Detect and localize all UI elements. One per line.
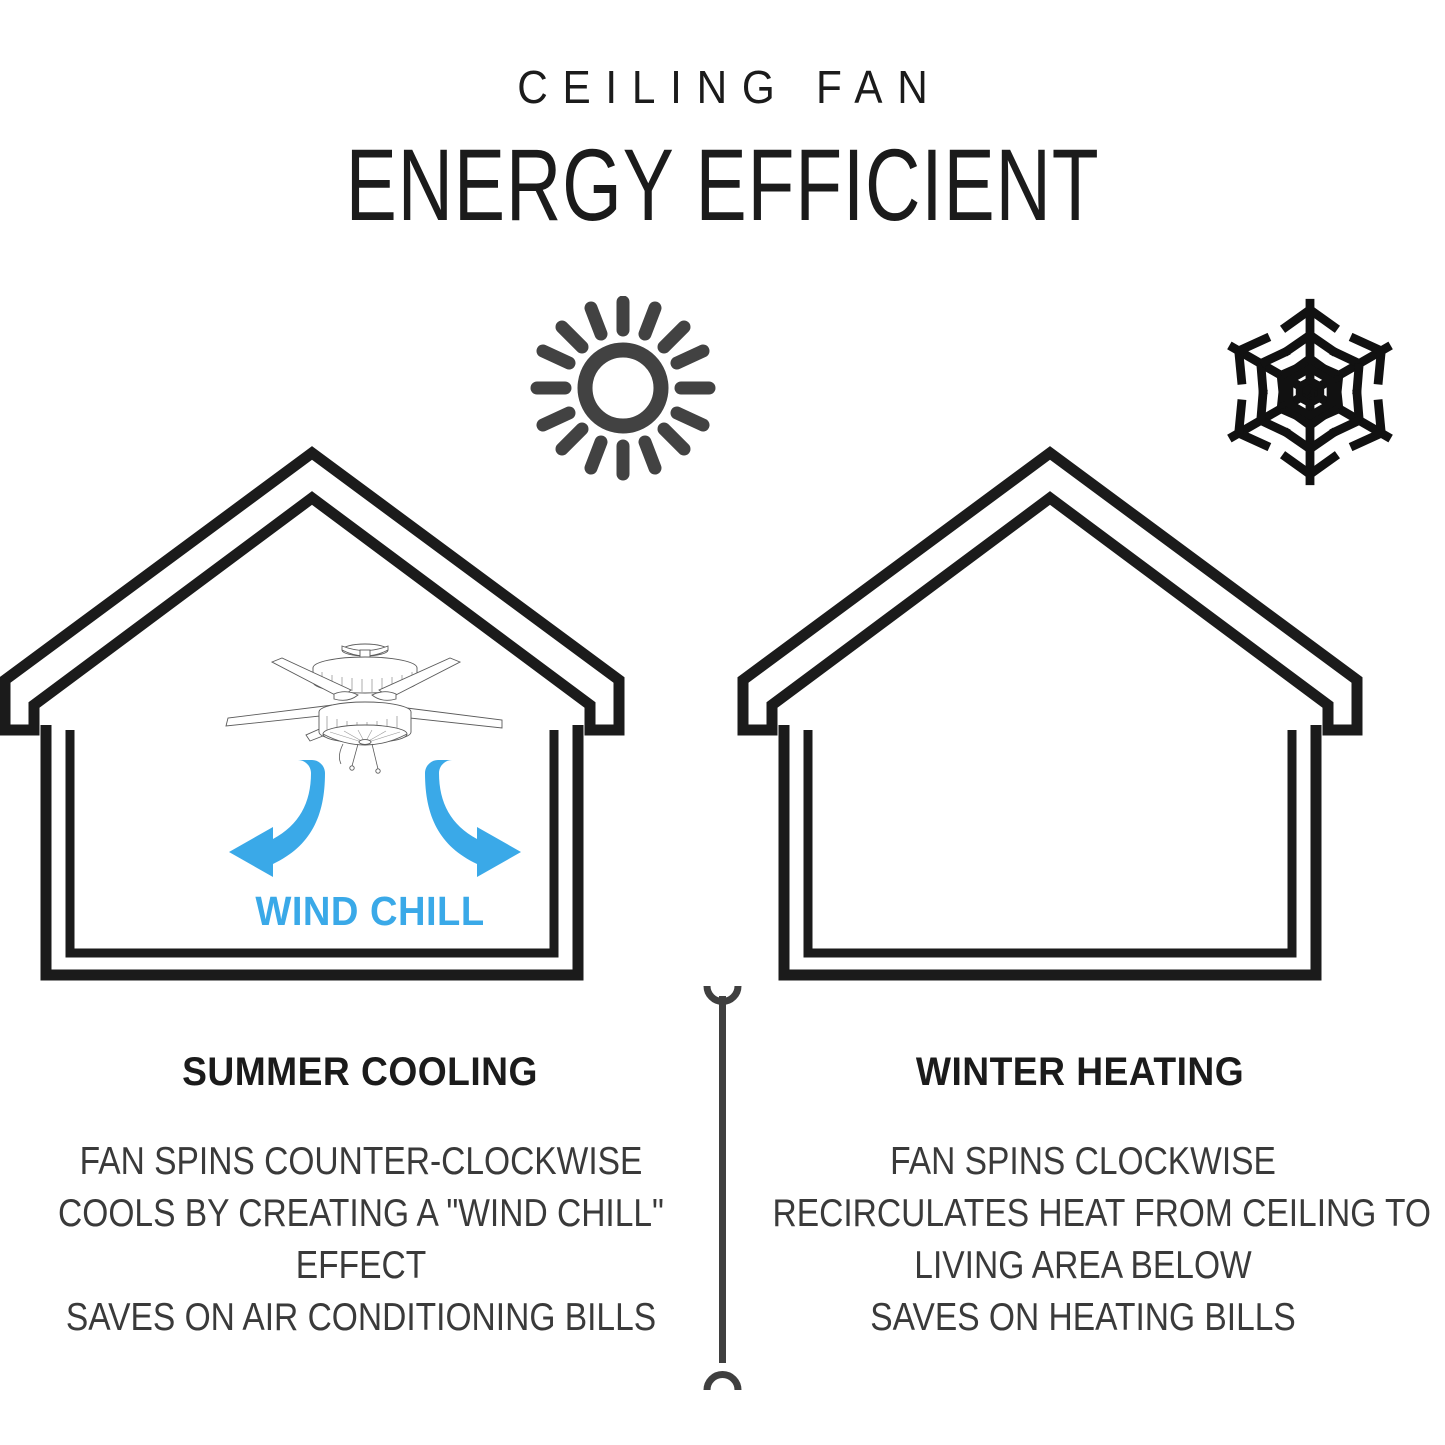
- winter-body: FAN SPINS CLOCKWISERECIRCULATES HEAT FRO…: [773, 1136, 1394, 1343]
- winter-body-line-2: LIVING AREA BELOW: [773, 1240, 1394, 1292]
- callout-summer: WIND CHILL: [82, 888, 659, 935]
- airflow-arrows-summer: [215, 752, 535, 882]
- center-divider: [700, 978, 745, 1398]
- summer-body-line-1: COOLS BY CREATING A "WIND CHILL": [51, 1188, 672, 1240]
- winter-heading: WINTER HEATING: [782, 1050, 1377, 1095]
- winter-body-line-3: SAVES ON HEATING BILLS: [773, 1292, 1394, 1344]
- cup-cap-icon: [707, 1375, 738, 1391]
- winter-body-line-1: RECIRCULATES HEAT FROM CEILING TO: [773, 1188, 1394, 1240]
- summer-heading: SUMMER COOLING: [62, 1050, 657, 1095]
- summer-body-line-3: SAVES ON AIR CONDITIONING BILLS: [51, 1292, 672, 1344]
- summer-body: FAN SPINS COUNTER-CLOCKWISECOOLS BY CREA…: [51, 1136, 672, 1343]
- infographic-canvas: CEILING FAN ENERGY EFFICIENT: [0, 0, 1445, 1445]
- summer-callout-line-0: WIND CHILL: [82, 888, 659, 935]
- house-outline-winter: [722, 440, 1444, 1000]
- winter-body-line-0: FAN SPINS CLOCKWISE: [773, 1136, 1394, 1188]
- summer-body-line-0: FAN SPINS COUNTER-CLOCKWISE: [51, 1136, 672, 1188]
- summer-body-line-2: EFFECT: [51, 1240, 672, 1292]
